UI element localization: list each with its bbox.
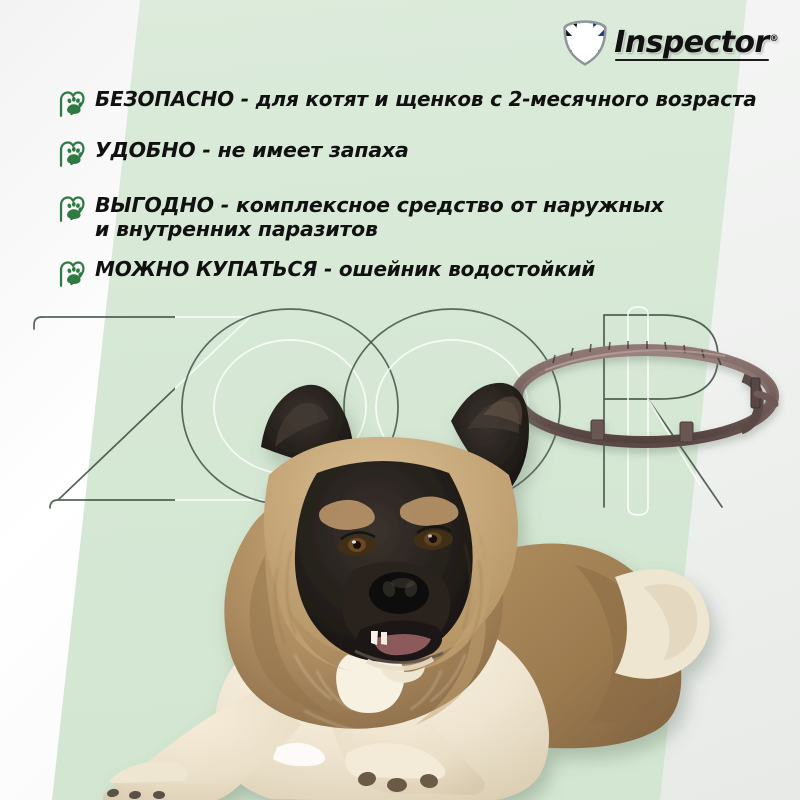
brand-name: Inspector bbox=[614, 25, 768, 60]
feature-item-waterproof: МОЖНО КУПАТЬСЯ - ошейник водостойкий bbox=[56, 258, 786, 289]
brand-logo[interactable]: Inspector® bbox=[563, 18, 778, 68]
brand-wordmark: Inspector® bbox=[614, 28, 778, 58]
feature-text: ВЫГОДНО - комплексное средство от наружн… bbox=[95, 193, 664, 241]
feature-text: МОЖНО КУПАТЬСЯ - ошейник водостойкий bbox=[95, 258, 595, 282]
feature-item-safe: БЕЗОПАСНО - для котят и щенков с 2-месяч… bbox=[56, 88, 786, 119]
shield-cross-icon bbox=[563, 20, 607, 66]
paw-heart-icon bbox=[56, 259, 86, 289]
feature-list: БЕЗОПАСНО - для котят и щенков с 2-месяч… bbox=[56, 88, 786, 308]
feature-text: БЕЗОПАСНО - для котят и щенков с 2-месяч… bbox=[95, 88, 757, 112]
advertisement-banner: Inspector® БЕЗОПАСНО - для котят и щенко… bbox=[0, 0, 800, 800]
paw-heart-icon bbox=[56, 89, 86, 119]
feature-item-effective: ВЫГОДНО - комплексное средство от наружн… bbox=[56, 193, 786, 241]
paw-heart-icon bbox=[56, 194, 86, 224]
registered-trademark-symbol: ® bbox=[770, 34, 778, 44]
feature-text: УДОБНО - не имеет запаха bbox=[95, 138, 409, 162]
paw-heart-icon bbox=[56, 139, 86, 169]
dog-photo-akita bbox=[55, 355, 745, 800]
feature-item-convenient: УДОБНО - не имеет запаха bbox=[56, 138, 786, 169]
